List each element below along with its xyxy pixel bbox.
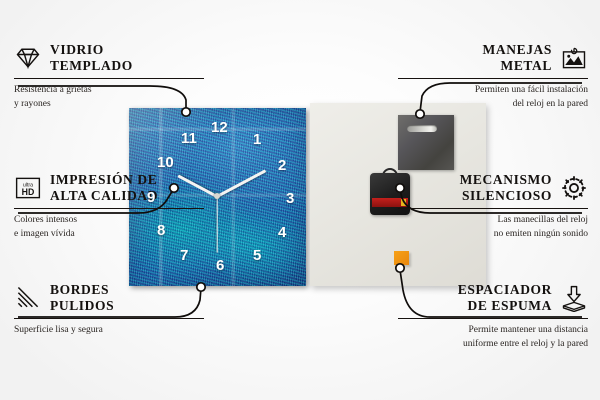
- callout-metal-handles: MANEJAS METAL Permiten una fácil instala…: [398, 42, 588, 111]
- clock-second-hand: [216, 197, 217, 253]
- metal-hanger-plate: [398, 115, 454, 170]
- callout-subtitle: Las manecillas del reloj no emiten ningú…: [398, 214, 588, 241]
- diamond-icon: [14, 44, 42, 72]
- clock-numeral-11: 11: [181, 131, 197, 146]
- clock-minute-hand: [216, 169, 266, 197]
- clock-numeral-6: 6: [216, 258, 224, 273]
- callout-subtitle: Colores intensos e imagen vívida: [14, 214, 204, 241]
- callout-divider: [14, 78, 204, 80]
- callout-header: MANEJAS METAL: [398, 42, 588, 74]
- callout-title: MANEJAS METAL: [398, 42, 552, 74]
- callout-header: VIDRIO TEMPLADO: [14, 42, 204, 74]
- clock-numeral-3: 3: [286, 191, 294, 206]
- clock-numeral-8: 8: [157, 223, 165, 238]
- callout-divider: [14, 208, 204, 210]
- callout-subtitle: Permite mantener una distancia uniforme …: [398, 324, 588, 351]
- wall-hanger-icon: [560, 44, 588, 72]
- clock-numeral-1: 1: [253, 132, 261, 147]
- callout-divider: [398, 318, 588, 320]
- callout-subtitle: Resistencia a grietas y rayones: [14, 84, 204, 111]
- infographic-stage: 12 1 2 3 4 5 6 7 8 9 10 11: [0, 0, 600, 400]
- callout-title: MECANISMO SILENCIOSO: [398, 172, 552, 204]
- callout-divider: [398, 78, 588, 80]
- callout-divider: [398, 208, 588, 210]
- callout-subtitle: Permiten una fácil instalación del reloj…: [398, 84, 588, 111]
- polished-edge-icon: [14, 284, 42, 312]
- ultra-hd-icon: ultra HD: [14, 174, 42, 202]
- callout-silent-mechanism: MECANISMO SILENCIOSO Las manecillas del …: [398, 172, 588, 241]
- clock-numeral-7: 7: [180, 248, 188, 263]
- callout-header: BORDES PULIDOS: [14, 282, 204, 314]
- gear-icon: [560, 174, 588, 202]
- callout-header: MECANISMO SILENCIOSO: [398, 172, 588, 204]
- callout-header: ESPACIADOR DE ESPUMA: [398, 282, 588, 314]
- foam-spacer-icon: [560, 284, 588, 312]
- callout-polished-edges: BORDES PULIDOS Superficie lisa y segura: [14, 282, 204, 338]
- clock-center-pin: [214, 193, 220, 199]
- callout-tempered-glass: VIDRIO TEMPLADO Resistencia a grietas y …: [14, 42, 204, 111]
- clock-numeral-9: 9: [147, 190, 155, 205]
- callout-header: ultra HD IMPRESIÓN DE ALTA CALIDAD: [14, 172, 204, 204]
- svg-text:HD: HD: [22, 187, 35, 197]
- callout-title: BORDES PULIDOS: [50, 282, 204, 314]
- clock-numeral-10: 10: [157, 155, 174, 170]
- callout-subtitle: Superficie lisa y segura: [14, 324, 204, 337]
- callout-title: VIDRIO TEMPLADO: [50, 42, 204, 74]
- clock-numeral-4: 4: [278, 225, 286, 240]
- clock-numeral-5: 5: [253, 248, 261, 263]
- callout-title: ESPACIADOR DE ESPUMA: [398, 282, 552, 314]
- callout-hd-print: ultra HD IMPRESIÓN DE ALTA CALIDAD Color…: [14, 172, 204, 241]
- clock-numeral-12: 12: [211, 120, 228, 135]
- callout-foam-spacer: ESPACIADOR DE ESPUMA Permite mantener un…: [398, 282, 588, 351]
- callout-divider: [14, 318, 204, 320]
- foam-spacer-pad: [394, 251, 409, 265]
- clock-numeral-2: 2: [278, 158, 286, 173]
- hanger-keyhole-slot: [407, 125, 437, 132]
